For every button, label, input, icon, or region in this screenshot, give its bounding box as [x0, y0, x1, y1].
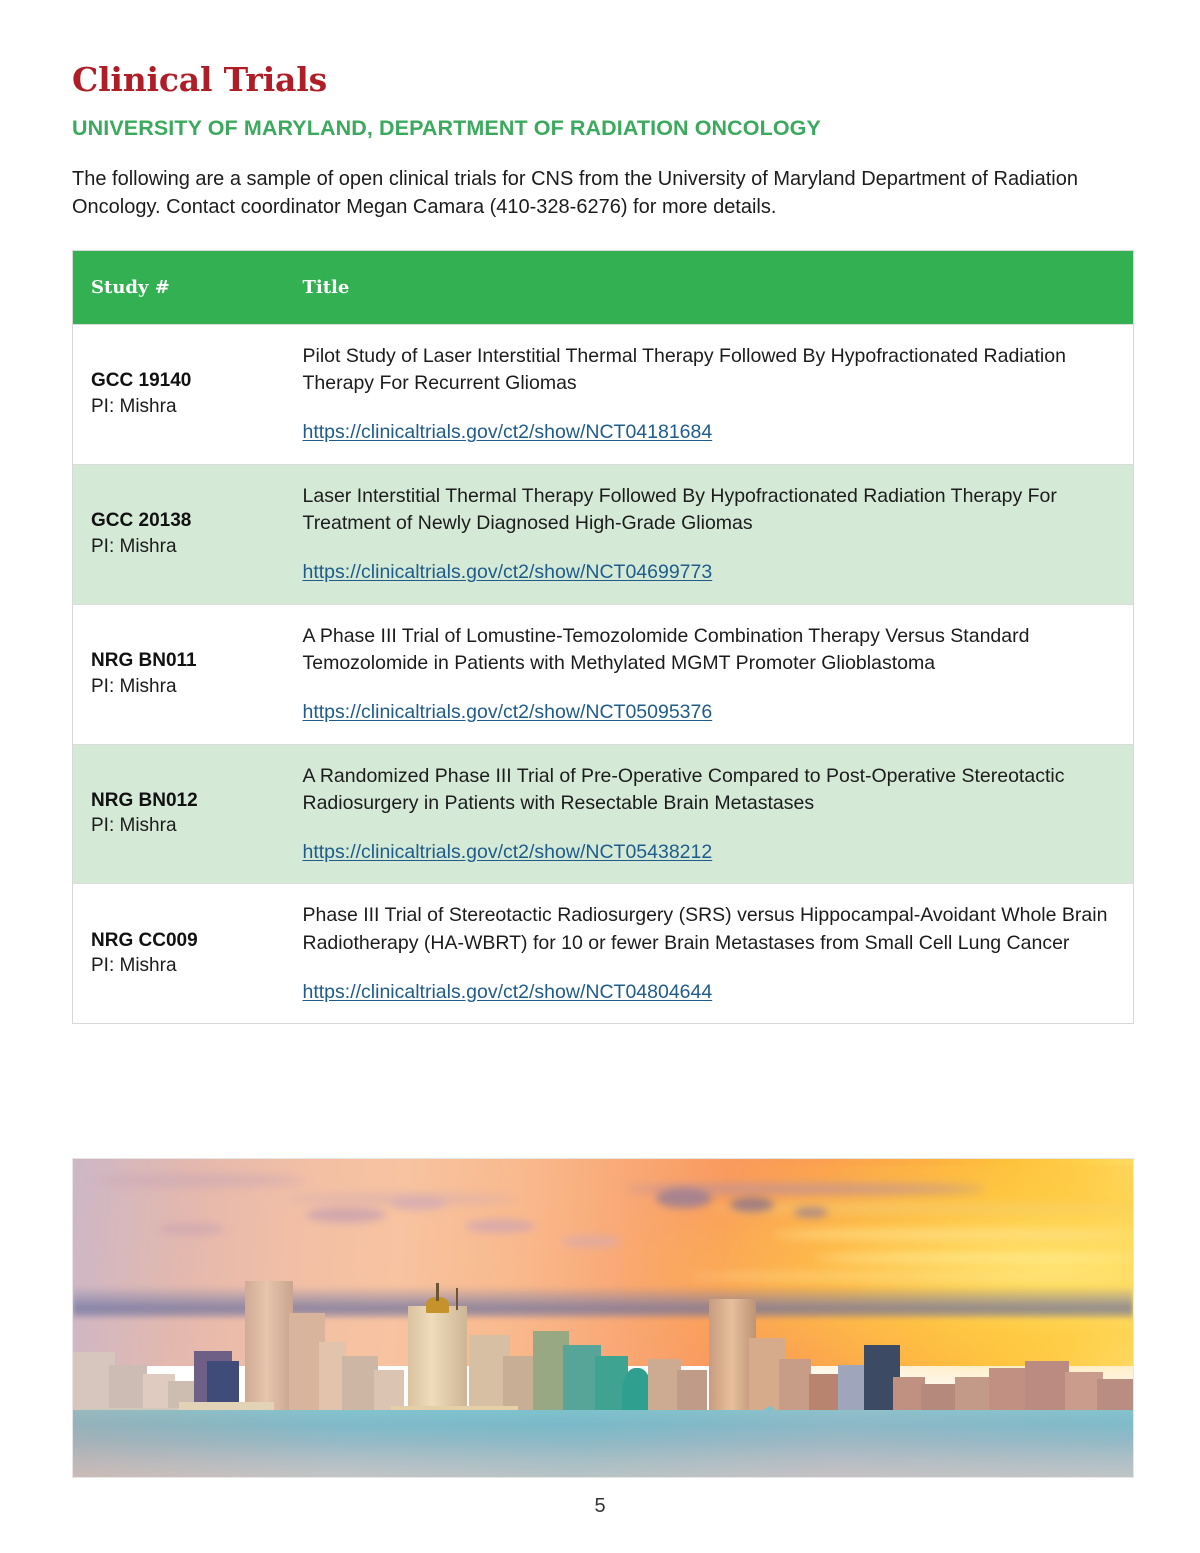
clinicaltrials-link[interactable]: https://clinicaltrials.gov/ct2/show/NCT0… — [303, 559, 713, 585]
cloud — [306, 1207, 386, 1223]
table-row: NRG BN012PI: MishraA Randomized Phase II… — [73, 744, 1134, 884]
trial-title-cell: Laser Interstitial Thermal Therapy Follo… — [285, 464, 1134, 604]
clinical-trials-table: Study # Title GCC 19140PI: MishraPilot S… — [72, 250, 1134, 1025]
building-spire — [456, 1288, 459, 1309]
trial-title: A Phase III Trial of Lomustine-Temozolom… — [303, 623, 1116, 678]
cloud — [158, 1223, 224, 1235]
column-header-study: Study # — [73, 250, 285, 324]
trial-title: A Randomized Phase III Trial of Pre-Oper… — [303, 763, 1116, 818]
study-number-cell: NRG BN012PI: Mishra — [73, 744, 285, 884]
water-reflection — [73, 1410, 1133, 1477]
study-number-cell: GCC 20138PI: Mishra — [73, 464, 285, 604]
table-body: GCC 19140PI: MishraPilot Study of Laser … — [73, 324, 1134, 1024]
trial-title-cell: A Phase III Trial of Lomustine-Temozolom… — [285, 604, 1134, 744]
column-header-title: Title — [285, 250, 1134, 324]
principal-investigator: PI: Mishra — [91, 394, 267, 420]
clinicaltrials-link[interactable]: https://clinicaltrials.gov/ct2/show/NCT0… — [303, 419, 713, 445]
table-row: GCC 19140PI: MishraPilot Study of Laser … — [73, 324, 1134, 464]
page-content: Clinical Trials UNIVERSITY OF MARYLAND, … — [72, 62, 1134, 1024]
page-number: 5 — [0, 1495, 1200, 1518]
trial-title-cell: A Randomized Phase III Trial of Pre-Oper… — [285, 744, 1134, 884]
intro-paragraph: The following are a sample of open clini… — [72, 165, 1122, 222]
cloud — [794, 1207, 828, 1218]
page-title: Clinical Trials — [72, 62, 1134, 98]
trial-title: Phase III Trial of Stereotactic Radiosur… — [303, 902, 1116, 957]
document-page: Clinical Trials UNIVERSITY OF MARYLAND, … — [0, 0, 1200, 1553]
page-subtitle: UNIVERSITY OF MARYLAND, DEPARTMENT OF RA… — [72, 116, 1134, 141]
study-id: NRG CC009 — [91, 929, 267, 954]
trial-title: Laser Interstitial Thermal Therapy Follo… — [303, 483, 1116, 538]
trial-title: Pilot Study of Laser Interstitial Therma… — [303, 343, 1116, 398]
cloud — [656, 1188, 712, 1208]
study-number-cell: NRG BN011PI: Mishra — [73, 604, 285, 744]
study-number-cell: GCC 19140PI: Mishra — [73, 324, 285, 464]
study-id: GCC 20138 — [91, 509, 267, 534]
study-id: GCC 19140 — [91, 369, 267, 394]
trial-title-cell: Phase III Trial of Stereotactic Radiosur… — [285, 884, 1134, 1024]
table-row: GCC 20138PI: MishraLaser Interstitial Th… — [73, 464, 1134, 604]
study-id: NRG BN012 — [91, 789, 267, 814]
table-row: NRG CC009PI: MishraPhase III Trial of St… — [73, 884, 1134, 1024]
clinicaltrials-link[interactable]: https://clinicaltrials.gov/ct2/show/NCT0… — [303, 979, 713, 1005]
table-row: NRG BN011PI: MishraA Phase III Trial of … — [73, 604, 1134, 744]
principal-investigator: PI: Mishra — [91, 534, 267, 560]
clinicaltrials-link[interactable]: https://clinicaltrials.gov/ct2/show/NCT0… — [303, 839, 713, 865]
clinicaltrials-link[interactable]: https://clinicaltrials.gov/ct2/show/NCT0… — [303, 699, 713, 725]
cloud-streak — [773, 1229, 1133, 1240]
principal-investigator: PI: Mishra — [91, 674, 267, 700]
table-header-row: Study # Title — [73, 250, 1134, 324]
principal-investigator: PI: Mishra — [91, 813, 267, 839]
principal-investigator: PI: Mishra — [91, 953, 267, 979]
baltimore-skyline-photo — [72, 1158, 1134, 1478]
photo-canvas — [73, 1159, 1133, 1477]
building-spire — [436, 1283, 439, 1301]
table-header: Study # Title — [73, 250, 1134, 324]
trial-title-cell: Pilot Study of Laser Interstitial Therma… — [285, 324, 1134, 464]
study-number-cell: NRG CC009PI: Mishra — [73, 884, 285, 1024]
cloud-streak — [94, 1175, 306, 1186]
study-id: NRG BN011 — [91, 649, 267, 674]
